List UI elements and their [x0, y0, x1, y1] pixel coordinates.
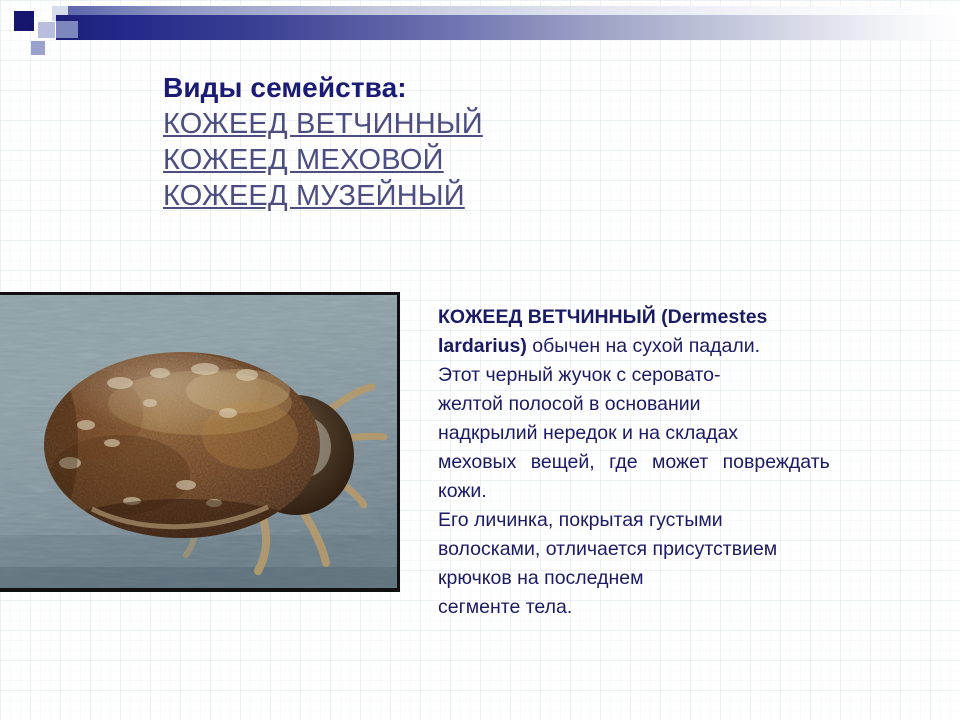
description-text-2: обычен на сухой падали.: [527, 335, 760, 357]
species-link-muzeyny[interactable]: КОЖЕЕД МУЗЕЙНЫЙ: [163, 178, 483, 214]
page-title: Виды семейства:: [163, 70, 483, 106]
description-line-9: волосками, отличается присутствием: [438, 535, 943, 564]
species-name-bold-2: lardarius): [438, 335, 527, 357]
beetle-photo: [0, 292, 400, 592]
description-line-8: Его личинка, покрытая густыми: [438, 506, 943, 535]
decoration-square-step: [56, 21, 78, 38]
description-line-3: Этот черный жучок с серовато-: [438, 361, 943, 390]
description-block: КОЖЕЕД ВЕТЧИННЫЙ (Dermestes lardarius) о…: [438, 303, 943, 622]
description-line-10: крючков на последнем: [438, 564, 943, 593]
description-line-1: КОЖЕЕД ВЕТЧИННЫЙ (Dermestes: [438, 303, 943, 332]
decoration-square-mid: [38, 22, 55, 38]
species-name-bold-1: КОЖЕЕД ВЕТЧИННЫЙ (Dermestes: [438, 306, 767, 328]
description-line-7: кожи.: [438, 477, 943, 506]
decoration-square-dark: [14, 11, 34, 31]
header-gradient-bar: [56, 15, 960, 40]
description-line-2: lardarius) обычен на сухой падали.: [438, 332, 943, 361]
description-line-6: меховых вещей, где может повреждать: [438, 448, 943, 477]
header-decoration: [0, 0, 960, 62]
species-link-vetchinny[interactable]: КОЖЕЕД ВЕТЧИННЫЙ: [163, 106, 483, 142]
decoration-square-small: [31, 41, 45, 55]
title-block: Виды семейства: КОЖЕЕД ВЕТЧИННЫЙ КОЖЕЕД …: [163, 70, 483, 214]
species-link-mehovoy[interactable]: КОЖЕЕД МЕХОВОЙ: [163, 142, 483, 178]
description-line-4: желтой полосой в основании: [438, 390, 943, 419]
description-line-5: надкрылий нередок и на складах: [438, 419, 943, 448]
description-line-11: сегменте тела.: [438, 593, 943, 622]
beetle-photo-illustration: [0, 295, 397, 588]
